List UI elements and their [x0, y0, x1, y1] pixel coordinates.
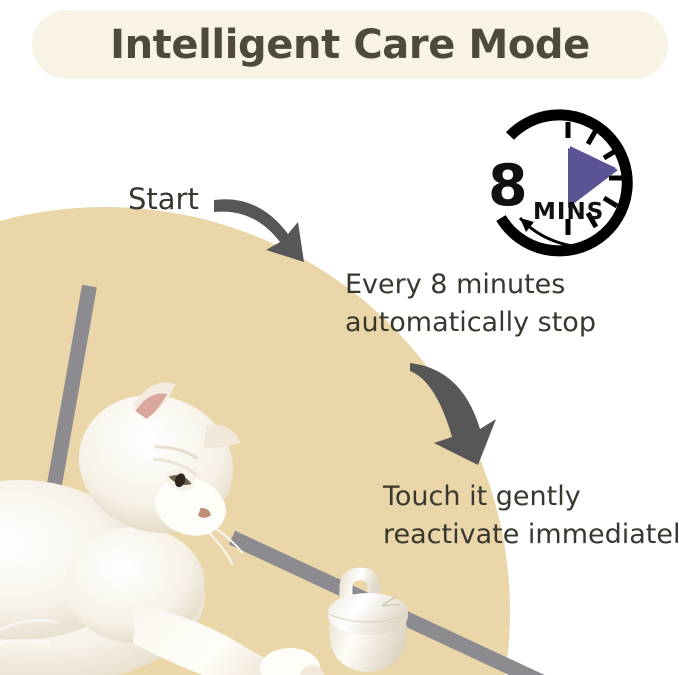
caption-touch-reactivate: Touch it gently reactivate immediately [383, 478, 679, 554]
caption-auto-stop: Every 8 minutes automatically stop [345, 266, 596, 342]
cat-toy-device[interactable] [316, 562, 420, 675]
flow-arrow-two-icon [408, 355, 518, 475]
caption-auto-stop-line2: automatically stop [345, 304, 596, 342]
timer-unit: MINS [533, 199, 604, 225]
timer-value: 8 [488, 153, 528, 219]
page-title: Intelligent Care Mode [110, 22, 590, 68]
caption-start: Start [128, 182, 199, 216]
timer-clock-icon: 8 MINS [466, 100, 651, 268]
caption-touch-line1: Touch it gently [383, 478, 679, 516]
caption-touch-line2: reactivate immediately [383, 516, 679, 554]
title-banner: Intelligent Care Mode [32, 10, 668, 79]
flow-arrow-one-icon [210, 186, 330, 266]
caption-start-line: Start [128, 182, 199, 216]
intelligent-care-mode-poster: Intelligent Care Mode 8 MINS [0, 0, 679, 675]
cat-photo [0, 380, 360, 675]
caption-auto-stop-line1: Every 8 minutes [345, 266, 596, 304]
